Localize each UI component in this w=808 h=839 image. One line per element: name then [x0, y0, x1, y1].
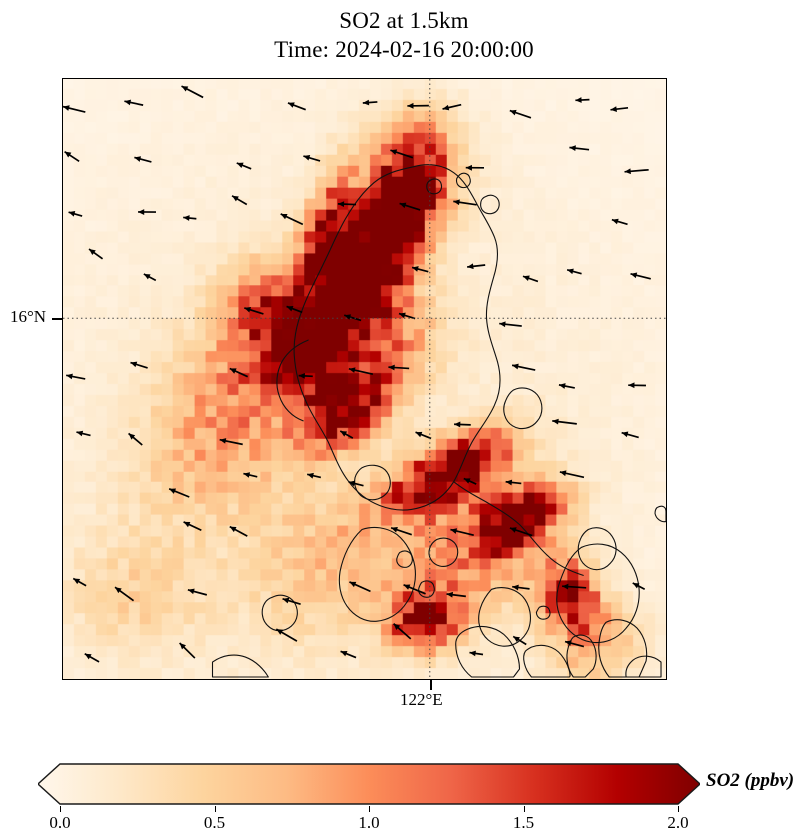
colorbar-tick-2: [369, 806, 370, 812]
colorbar-tick-1: [215, 806, 216, 812]
ytick-mark-16n: [52, 318, 62, 320]
colorbar-tick-4: [678, 806, 679, 812]
colorbar-tick-label-4: 2.0: [667, 813, 688, 833]
figure-title-block: SO2 at 1.5km Time: 2024-02-16 20:00:00: [0, 6, 808, 65]
colorbar-tick-label-2: 1.0: [358, 813, 379, 833]
xtick-label-122e: 122°E: [400, 690, 443, 710]
colorbar-tick-3: [524, 806, 525, 812]
colorbar-tick-label-0: 0.0: [49, 813, 70, 833]
colorbar-tick-label-1: 0.5: [204, 813, 225, 833]
page-title: SO2 at 1.5km: [0, 6, 808, 35]
colorbar[interactable]: 0.0 0.5 1.0 1.5 2.0: [38, 762, 700, 806]
map-plot-area[interactable]: [62, 78, 667, 680]
ytick-label-16n: 16°N: [10, 307, 46, 327]
so2-concentration-raster: [63, 79, 666, 679]
colorbar-axis-label: SO2 (ppbv): [706, 770, 794, 792]
colorbar-tick-label-3: 1.5: [513, 813, 534, 833]
colorbar-gradient: [38, 762, 700, 806]
xtick-mark-122e: [430, 680, 432, 690]
colorbar-tick-0: [60, 806, 61, 812]
figure-subtitle: Time: 2024-02-16 20:00:00: [0, 35, 808, 64]
